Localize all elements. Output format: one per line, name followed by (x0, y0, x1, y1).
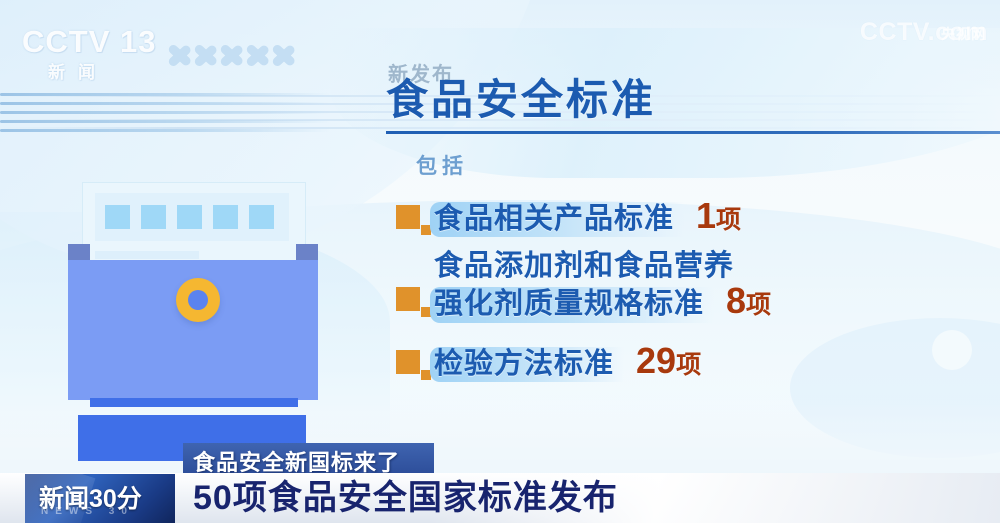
document-header-block (95, 193, 289, 241)
ring-button-icon (176, 278, 220, 322)
chevron-icon (270, 34, 300, 78)
list-item-label: 食品相关产品标准 (434, 203, 674, 235)
headline-rule (386, 131, 1000, 134)
bullet-square-icon (396, 199, 430, 237)
list-item: 食品相关产品标准 1项 (396, 198, 741, 237)
cctv13-logo: CCTV 13 新闻 (22, 24, 172, 86)
list-item-text: 食品相关产品标准 1项 (430, 198, 741, 237)
document-text-line (95, 251, 199, 259)
lower-third-headline: 50项食品安全国家标准发布 (193, 476, 618, 520)
list-item-label: 检验方法标准 (434, 348, 614, 380)
list-item-count: 29项 (636, 340, 701, 381)
list-item-highlight-bar: 强化剂质量规格标准 (430, 287, 714, 322)
cctv13-logo-text: CCTV 13 (22, 24, 172, 60)
page-title: 食品安全标准 (386, 79, 656, 121)
list-item-text: 检验方法标准 29项 (430, 343, 701, 382)
list-item-highlight-bar: 检验方法标准 (430, 347, 624, 382)
lower-third-topic: 食品安全新国标来了 (183, 443, 434, 473)
background-dot-right (932, 330, 972, 370)
background-stripe-lines (0, 93, 330, 135)
list-item: 检验方法标准 29项 (396, 343, 701, 382)
bullet-square-icon (396, 281, 430, 319)
envelope-base-line (90, 398, 298, 407)
cctv-com-watermark-cn: 央视网 (941, 24, 986, 44)
cctv-com-watermark: 央视网 CCTV.com (860, 18, 988, 47)
list-item-label-line1: 食品添加剂和食品营养 (430, 250, 771, 283)
lower-third-topic-text: 食品安全新国标来了 (183, 443, 434, 477)
list-item: 食品添加剂和食品营养 强化剂质量规格标准 8项 (396, 250, 771, 323)
includes-label: 包括 (416, 150, 468, 180)
list-item-count: 8项 (726, 280, 771, 321)
program-logo-en: NEWS 30' (41, 506, 143, 517)
list-item-text: 食品添加剂和食品营养 强化剂质量规格标准 8项 (430, 250, 771, 323)
cctv13-logo-subtext: 新闻 (48, 58, 172, 83)
bullet-square-icon (396, 344, 430, 382)
program-logo: 新闻30分 NEWS 30' (25, 474, 175, 523)
list-item-highlight-bar: 食品相关产品标准 (430, 202, 684, 237)
list-item-count: 1项 (696, 195, 741, 236)
broadcast-graphic: CCTV 13 新闻 央视网 CCTV.com 新发布 食品安全标准 包括 (0, 0, 1000, 523)
envelope-illustration (68, 182, 318, 400)
list-item-label-line2: 强化剂质量规格标准 (434, 288, 704, 320)
